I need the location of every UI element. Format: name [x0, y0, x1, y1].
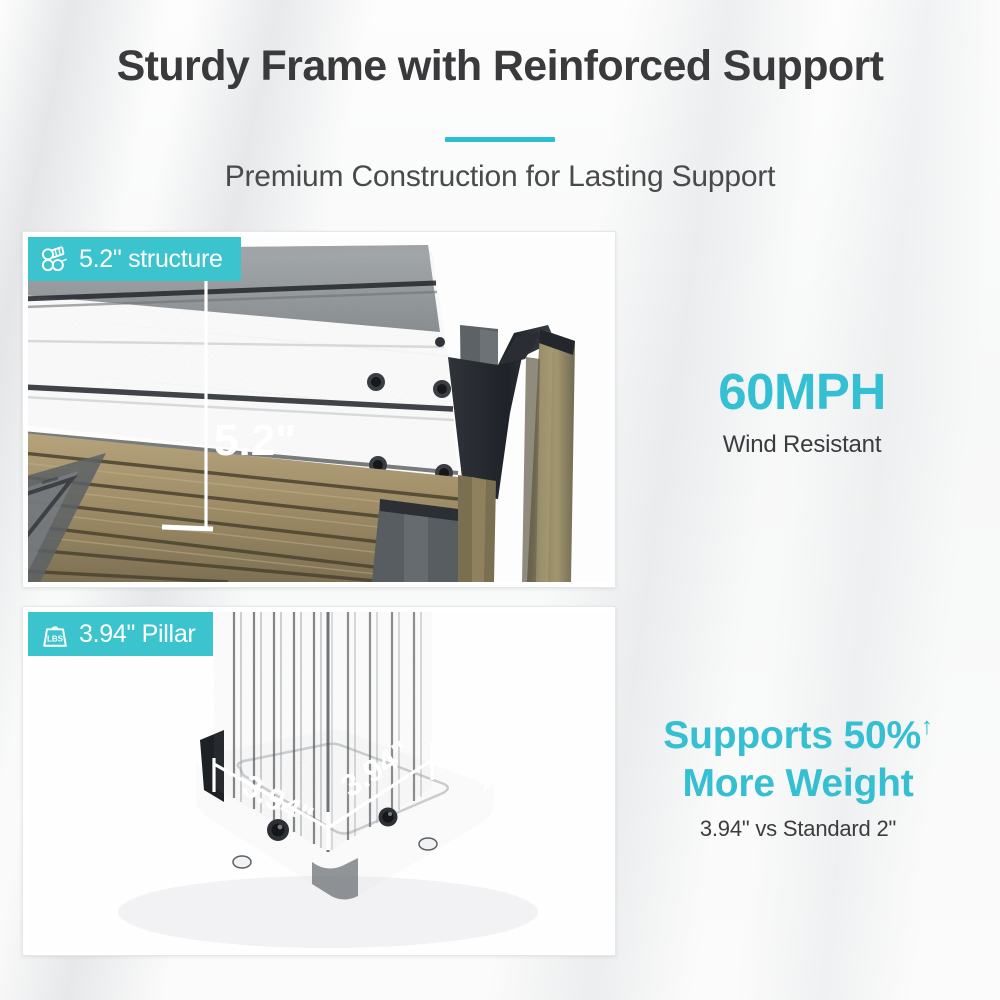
pillar-illustration: 3.94" 3.94"	[28, 612, 610, 950]
infographic-canvas: Sturdy Frame with Reinforced Support Pre…	[0, 0, 1000, 1000]
stacked-pipes-icon	[40, 244, 70, 274]
stat-more-weight: Supports 50%↑ More Weight 3.94" vs Stand…	[618, 712, 978, 842]
stat-weight-line1-text: Supports 50%	[663, 714, 921, 757]
title-divider	[445, 137, 555, 142]
svg-text:LBS: LBS	[47, 635, 64, 644]
stat-weight-line2: More Weight	[618, 760, 978, 808]
weight-lbs-icon: LBS	[40, 619, 70, 649]
page-title: Sturdy Frame with Reinforced Support	[0, 42, 1000, 91]
photo-panel-pillar: 3.94" 3.94" LBS 3.94" Pillar	[22, 606, 616, 956]
badge-structure-label: 5.2" structure	[79, 245, 223, 274]
photo-structure: 5.2" 5.2" str	[28, 237, 610, 582]
stat-wind-value: 60MPH	[622, 365, 982, 419]
stat-weight-caption: 3.94" vs Standard 2"	[618, 816, 978, 842]
arrow-up-icon: ↑	[921, 713, 933, 740]
badge-pillar: LBS 3.94" Pillar	[28, 612, 213, 656]
page-subtitle: Premium Construction for Lasting Support	[0, 160, 1000, 194]
stat-wind-resistant: 60MPH Wind Resistant	[622, 365, 982, 459]
photo-panel-structure: 5.2" 5.2" str	[22, 231, 616, 588]
gazebo-beam-illustration: 5.2"	[28, 237, 610, 582]
badge-pillar-label: 3.94" Pillar	[79, 620, 195, 649]
stat-weight-line1: Supports 50%↑	[618, 712, 978, 760]
dimension-text-5-2: 5.2"	[214, 416, 296, 465]
badge-structure: 5.2" structure	[28, 237, 241, 281]
photo-pillar: 3.94" 3.94" LBS 3.94" Pillar	[28, 612, 610, 950]
stat-wind-caption: Wind Resistant	[622, 431, 982, 459]
